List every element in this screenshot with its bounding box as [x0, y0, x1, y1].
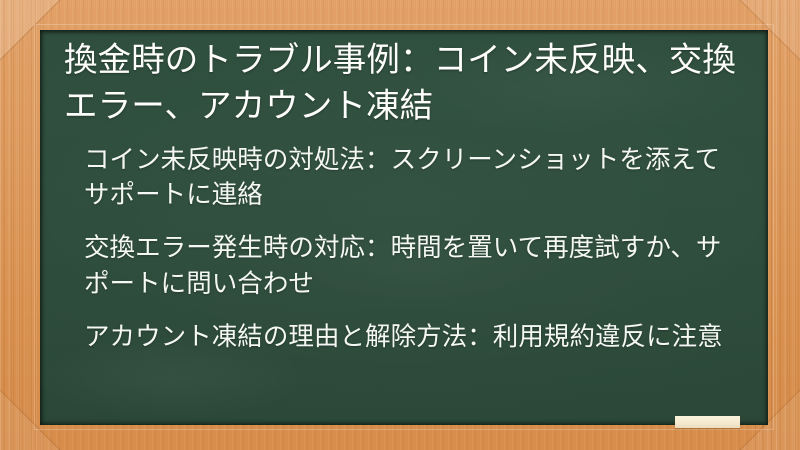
slide-bullet-item: コイン未反映時の対処法：スクリーンショットを添えてサポートに連絡 [84, 143, 742, 214]
slide-bullet-item: 交換エラー発生時の対応：時間を置いて再度試すか、サポートに問い合わせ [84, 231, 742, 302]
chalkboard-slate: 換金時のトラブル事例：コイン未反映、交換エラー、アカウント凍結 コイン未反映時の… [40, 30, 768, 425]
slide-title: 換金時のトラブル事例：コイン未反映、交換エラー、アカウント凍結 [64, 38, 742, 130]
chalkboard-frame: 換金時のトラブル事例：コイン未反映、交換エラー、アカウント凍結 コイン未反映時の… [0, 0, 800, 450]
frame-grain-left [0, 0, 42, 450]
chalk-stick-prop [675, 416, 740, 428]
slide-bullet-list: コイン未反映時の対処法：スクリーンショットを添えてサポートに連絡 交換エラー発生… [64, 143, 742, 355]
slide-bullet-item: アカウント凍結の理由と解除方法：利用規約違反に注意 [84, 320, 742, 356]
slide-content: 換金時のトラブル事例：コイン未反映、交換エラー、アカウント凍結 コイン未反映時の… [40, 30, 768, 425]
